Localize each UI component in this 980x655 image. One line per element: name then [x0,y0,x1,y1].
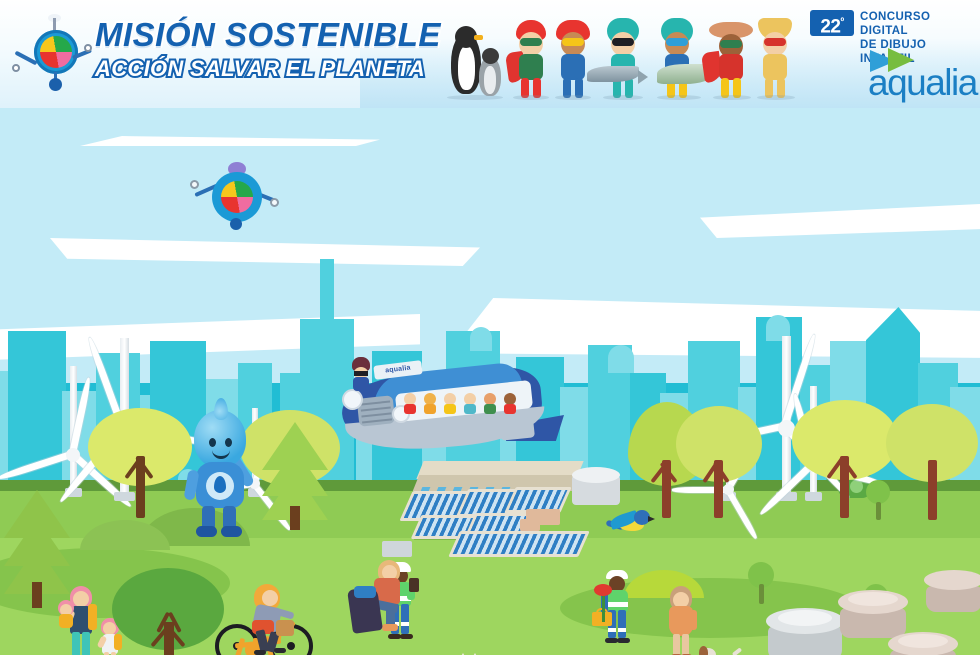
mother-with-baby [62,586,102,655]
small-tree [862,480,896,520]
blue-tit-bird [608,506,656,542]
poster-title-block: Misión Sostenible Acción salvar el plane… [95,16,445,82]
tree [884,404,980,520]
water-tank [888,632,958,655]
flying-globe-drone-icon [190,160,280,230]
plant-storage-tank [572,475,620,505]
water-tank [924,570,980,612]
sunhat-superhero-kid-icon [709,14,753,100]
airship-passenger [502,393,518,413]
pine-tree [4,490,70,600]
brand-name: aqualia [868,64,977,101]
airship-headlight-icon [344,391,361,408]
superhero-kid-green-icon [509,14,553,100]
poster-root: Misión Sostenible Acción salvar el plane… [0,0,980,655]
edition-number: 22 [820,16,840,37]
small-tree [744,562,780,604]
airship-passenger [422,393,438,413]
girl-with-dog [664,586,698,655]
airship-passenger [462,393,478,413]
buckethat-superhero-kid-icon [753,14,797,100]
kneeling-person-with-bag [352,560,412,640]
main-illustration: aqualia [0,108,980,655]
page-title: Misión Sostenible [95,16,445,54]
water-drop-robot-mascot [180,410,258,540]
airship-passenger [442,393,458,413]
edition-ordinal: º [840,17,843,28]
contest-line-1: CONCURSO DIGITAL [860,10,980,38]
water-tank [766,608,844,655]
backpack-icon [88,604,97,630]
pine-tree [262,422,328,518]
airship-passenger [482,393,498,413]
cyclist-woman [248,584,294,655]
airship-passenger [402,393,418,413]
airship-pilot [350,357,372,391]
penguin-group-icon [445,16,505,100]
globe-robot-mascot-icon [12,16,92,96]
edition-badge: 22º [810,10,854,36]
tree [672,406,772,518]
diver-kid-with-fish-icon [597,14,653,100]
superhero-kid-blue-icon [551,14,595,100]
tree [112,568,232,655]
basket-icon [276,620,294,636]
water-treatment-plant [400,453,610,563]
dog [700,644,746,655]
page-subtitle: Acción salvar el planeta [95,56,445,82]
airship-grill-icon [357,395,396,427]
poster-header: Misión Sostenible Acción salvar el plane… [0,0,980,108]
water-tank [838,590,908,638]
aqualia-logo: aqualia [862,48,977,100]
header-character-strip [445,8,795,104]
flower-plant [588,582,622,624]
